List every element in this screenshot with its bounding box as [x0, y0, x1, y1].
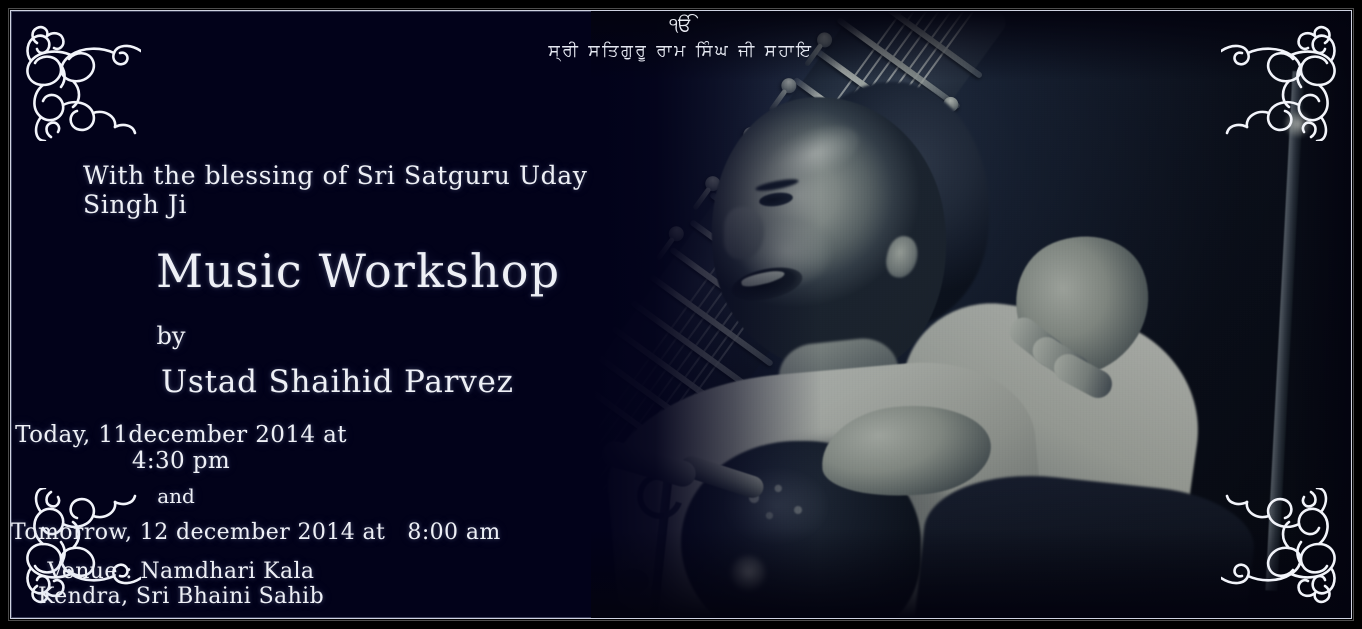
event-title: Music Workshop — [156, 244, 671, 298]
sitar-player-photo — [591, 11, 1351, 618]
invitation-text-block: With the blessing of Sri Satguru Uday Si… — [11, 161, 671, 619]
venue-line: Venue : Namdhari Kala Kendra, Sri Bhaini… — [11, 559, 671, 609]
gurmukhi-invocation: ਸ੍ਰੀ ਸਤਿਗੁਰੂ ਰਾਮ ਸਿੰਘ ਜੀ ਸਹਾਇ — [11, 38, 1351, 64]
conjunction-label: and — [11, 484, 671, 508]
date-line-1: Today, 11december 2014 at 4:30 pm — [11, 422, 671, 474]
artist-name: Ustad Shaihid Parvez — [161, 364, 671, 400]
date-line-2: Tomorrow, 12 december 2014 at 8:00 am — [11, 520, 671, 545]
ik-onkar-symbol: ੴ — [11, 13, 1351, 37]
photo-bottom-fade — [591, 528, 1351, 618]
by-label: by — [11, 322, 671, 350]
photo-right-fade — [1291, 11, 1351, 618]
religious-header: ੴ ਸ੍ਰੀ ਸਤਿਗੁਰੂ ਰਾਮ ਸਿੰਘ ਜੀ ਸਹਾਇ — [11, 13, 1351, 64]
blessing-line: With the blessing of Sri Satguru Uday Si… — [71, 161, 671, 219]
invitation-card: ੴ ਸ੍ਰੀ ਸਤਿਗੁਰੂ ਰਾਮ ਸਿੰਘ ਜੀ ਸਹਾਇ With the… — [0, 0, 1362, 629]
card-frame: ੴ ਸ੍ਰੀ ਸਤਿਗੁਰੂ ਰਾਮ ਸਿੰਘ ਜੀ ਸਹਾਇ With the… — [10, 10, 1352, 619]
